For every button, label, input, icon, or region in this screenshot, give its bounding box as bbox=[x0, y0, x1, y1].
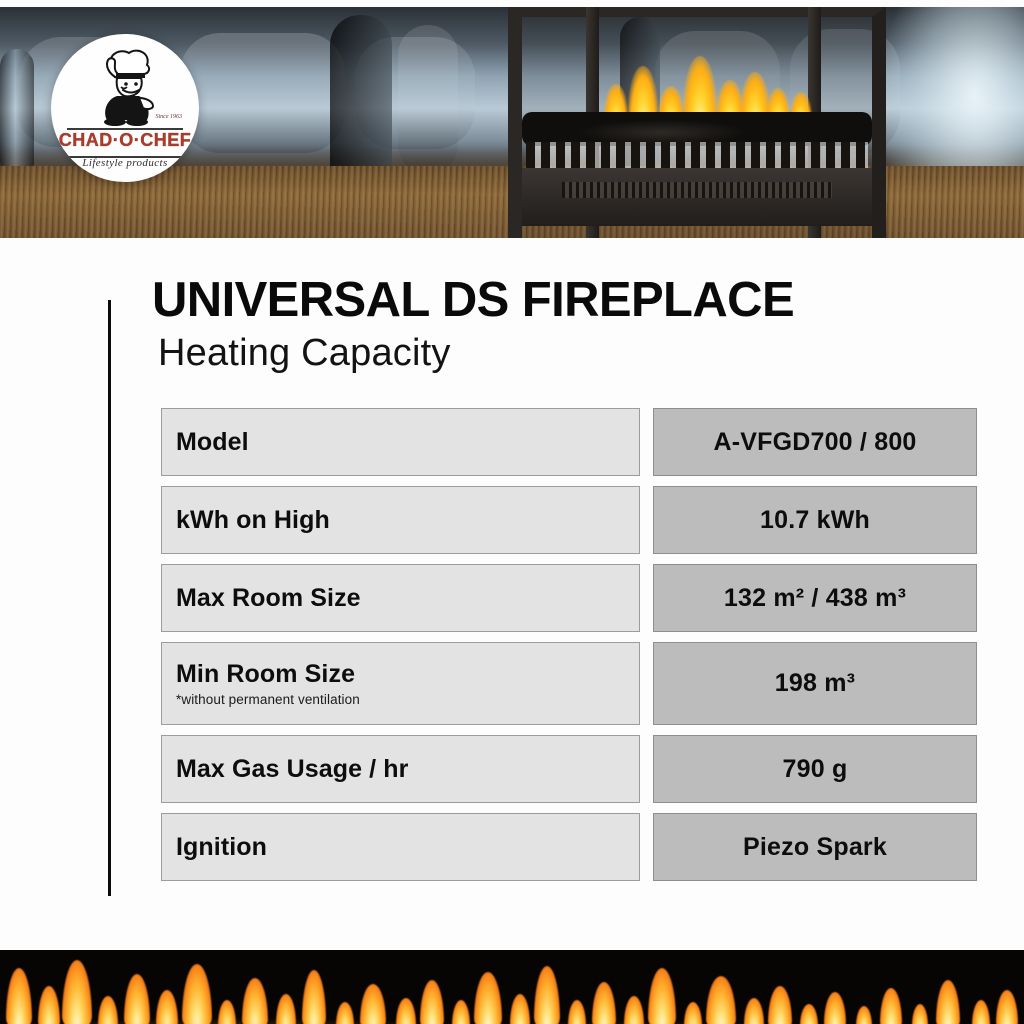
cell-gap bbox=[640, 486, 653, 554]
table-row: Max Gas Usage / hr 790 g bbox=[0, 735, 1024, 803]
spec-label-cell: Min Room Size *without permanent ventila… bbox=[161, 642, 640, 725]
spec-label: Ignition bbox=[176, 833, 639, 862]
page-subtitle: Heating Capacity bbox=[158, 330, 992, 378]
logo-tagline: Lifestyle products bbox=[51, 157, 199, 169]
spec-label: Max Gas Usage / hr bbox=[176, 755, 639, 784]
fireplace-base bbox=[522, 168, 872, 226]
fireplace-vents bbox=[562, 182, 832, 198]
spec-value-cell: 10.7 kWh bbox=[653, 486, 977, 554]
table-row: kWh on High 10.7 kWh bbox=[0, 486, 1024, 554]
sofa-cushion bbox=[180, 33, 345, 153]
cell-gap bbox=[640, 735, 653, 803]
top-banner-image: Since 1963 CHAD·O·CHEF Lifestyle product… bbox=[0, 7, 1024, 238]
logo-wordmark: CHAD·O·CHEF bbox=[51, 130, 199, 151]
bottom-banner-image bbox=[0, 950, 1024, 1024]
spec-value: 132 m² / 438 m³ bbox=[724, 584, 906, 613]
table-row: Model A-VFGD700 / 800 bbox=[0, 408, 1024, 476]
table-row: Min Room Size *without permanent ventila… bbox=[0, 642, 1024, 725]
spec-label-cell: kWh on High bbox=[161, 486, 640, 554]
spec-label-cell: Ignition bbox=[161, 813, 640, 881]
spec-label-note: *without permanent ventilation bbox=[176, 692, 639, 707]
spec-value: A-VFGD700 / 800 bbox=[713, 428, 916, 457]
spec-sheet-body: UNIVERSAL DS FIREPLACE Heating Capacity … bbox=[0, 238, 1024, 950]
spec-value-cell: 198 m³ bbox=[653, 642, 977, 725]
spec-value: 790 g bbox=[783, 755, 848, 784]
spec-value: Piezo Spark bbox=[743, 833, 887, 862]
spec-value-cell: Piezo Spark bbox=[653, 813, 977, 881]
specifications-table: Model A-VFGD700 / 800 kWh on High 10.7 k… bbox=[0, 408, 1024, 891]
spec-value-cell: 790 g bbox=[653, 735, 977, 803]
spec-label-cell: Model bbox=[161, 408, 640, 476]
cell-gap bbox=[640, 813, 653, 881]
brand-logo: Since 1963 CHAD·O·CHEF Lifestyle product… bbox=[51, 34, 199, 182]
spec-label-cell: Max Room Size bbox=[161, 564, 640, 632]
sofa-armrest bbox=[0, 49, 34, 179]
spec-value-cell: A-VFGD700 / 800 bbox=[653, 408, 977, 476]
spec-label: kWh on High bbox=[176, 506, 639, 535]
table-row: Max Room Size 132 m² / 438 m³ bbox=[0, 564, 1024, 632]
page-heading: UNIVERSAL DS FIREPLACE Heating Capacity bbox=[152, 276, 992, 377]
cell-gap bbox=[640, 564, 653, 632]
cell-gap bbox=[640, 642, 653, 725]
spec-label-cell: Max Gas Usage / hr bbox=[161, 735, 640, 803]
spec-value: 10.7 kWh bbox=[760, 506, 870, 535]
flame-base-glow bbox=[0, 998, 1024, 1024]
logo-since-text: Since 1963 bbox=[156, 114, 183, 120]
table-row: Ignition Piezo Spark bbox=[0, 813, 1024, 881]
spec-value-cell: 132 m² / 438 m³ bbox=[653, 564, 977, 632]
spec-value: 198 m³ bbox=[775, 669, 855, 698]
cell-gap bbox=[640, 408, 653, 476]
page-title: UNIVERSAL DS FIREPLACE bbox=[152, 276, 992, 326]
spec-label: Min Room Size bbox=[176, 660, 639, 689]
fireplace-unit bbox=[508, 7, 886, 238]
spec-label: Max Room Size bbox=[176, 584, 639, 613]
sofa-cushion bbox=[398, 25, 458, 175]
spec-label: Model bbox=[176, 428, 639, 457]
coal-bed bbox=[522, 112, 872, 146]
